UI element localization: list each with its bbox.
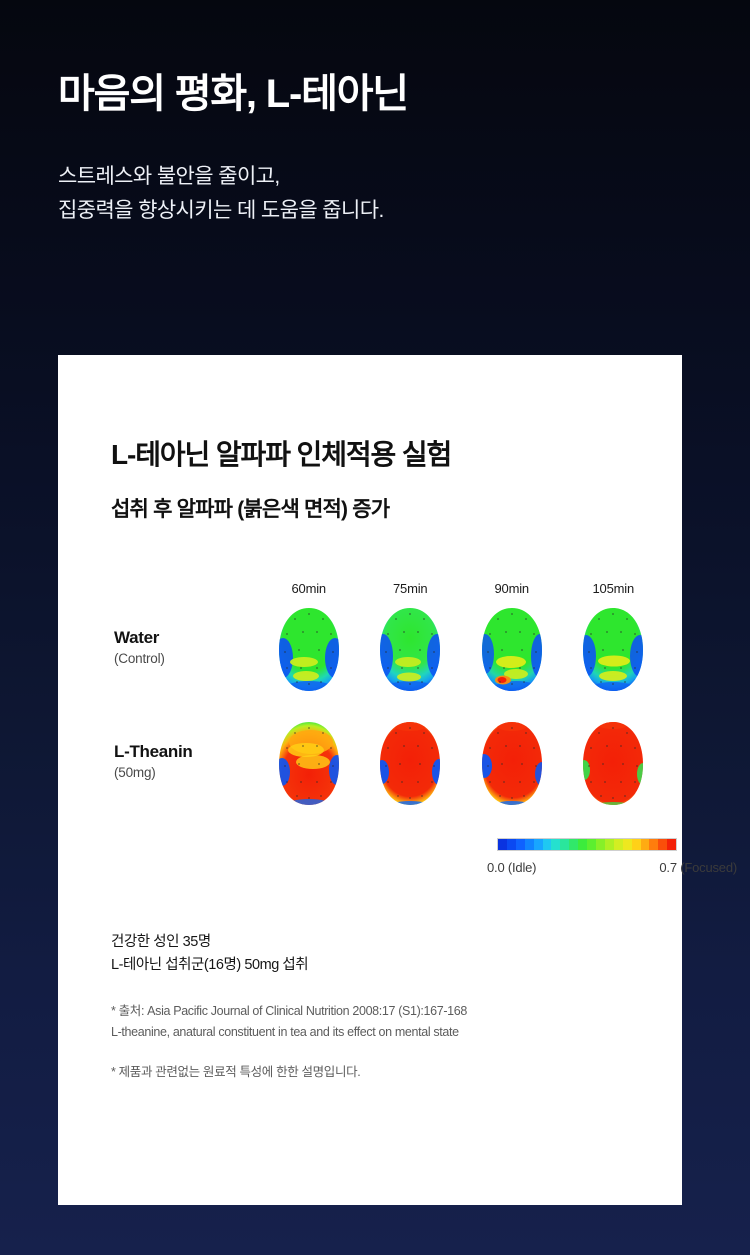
colorbar-segment-19	[667, 839, 676, 850]
colorbar-segment-13	[614, 839, 623, 850]
study-notes: 건강한 성인 35명 L-테아닌 섭취군(16명) 50mg 섭취 * 출처: …	[58, 931, 682, 1082]
card-subtitle: 섭취 후 알파파 (붉은색 면적) 증가	[58, 493, 682, 523]
colorbar-segment-10	[587, 839, 596, 850]
eeg-topomap-icon	[476, 606, 548, 694]
brain-map-theanin-105min	[563, 720, 665, 808]
colorbar-segment-17	[649, 839, 658, 850]
row-label-theanin: L-Theanin (50mg)	[111, 720, 258, 780]
brain-map-theanin-75min	[360, 720, 462, 808]
colorbar-segment-12	[605, 839, 614, 850]
row-label-water-main: Water	[114, 628, 258, 648]
colorbar-segment-8	[569, 839, 578, 850]
eeg-topomap-icon	[273, 606, 345, 694]
brain-map-water-75min	[360, 606, 462, 694]
colorbar-legend: 0.0 (Idle) 0.7 (Focused)	[311, 838, 641, 875]
map-row-theanin: L-Theanin (50mg)	[111, 720, 682, 808]
brain-map-theanin-90min	[461, 720, 563, 808]
row-label-water-sub: (Control)	[114, 651, 258, 666]
page-title: 마음의 평화, L-테아닌	[58, 70, 750, 118]
colorbar-segment-5	[543, 839, 552, 850]
eeg-topomap-icon	[577, 606, 649, 694]
colorbar-segment-1	[507, 839, 516, 850]
colorbar-segment-15	[632, 839, 641, 850]
eeg-topomap-icon	[374, 720, 446, 808]
colorbar-segment-9	[578, 839, 587, 850]
colorbar-segment-7	[560, 839, 569, 850]
eeg-topomap-icon	[577, 720, 649, 808]
colorbar-segment-16	[641, 839, 650, 850]
source-note: * 출처: Asia Pacific Journal of Clinical N…	[111, 1001, 682, 1042]
source-line-2: L-theanine, anatural constituent in tea …	[111, 1022, 682, 1042]
row-label-water: Water (Control)	[111, 606, 258, 666]
map-row-water: Water (Control)	[111, 606, 682, 694]
study-card: L-테아닌 알파파 인체적용 실험 섭취 후 알파파 (붉은색 면적) 증가 6…	[58, 355, 682, 1205]
eeg-topomap-icon	[273, 720, 345, 808]
row-label-theanin-main: L-Theanin	[114, 742, 258, 762]
participants-line-2: L-테아닌 섭취군(16명) 50mg 섭취	[111, 954, 682, 977]
source-line-1: * 출처: Asia Pacific Journal of Clinical N…	[111, 1001, 682, 1021]
colorbar-segment-4	[534, 839, 543, 850]
row-label-theanin-sub: (50mg)	[114, 765, 258, 780]
colorbar-segment-2	[516, 839, 525, 850]
colorbar-min-label: 0.0 (Idle)	[487, 860, 536, 875]
disclaimer-note: * 제품과 관련없는 원료적 특성에 한한 설명입니다.	[111, 1062, 682, 1082]
time-column-headers: 60min 75min 90min 105min	[258, 581, 664, 596]
hero-subtitle: 스트레스와 불안을 줄이고, 집중력을 향상시키는 데 도움을 줍니다.	[58, 160, 750, 228]
column-header-105min: 105min	[563, 581, 665, 596]
participants-line-1: 건강한 성인 35명	[111, 931, 682, 954]
brain-map-theanin-60min	[258, 720, 360, 808]
disclaimer-text: * 제품과 관련없는 원료적 특성에 한한 설명입니다.	[111, 1062, 682, 1082]
column-header-60min: 60min	[258, 581, 360, 596]
hero-subtitle-line-1: 스트레스와 불안을 줄이고,	[58, 160, 750, 194]
eeg-figure: 60min 75min 90min 105min Water (Control)	[58, 581, 682, 875]
eeg-topomap-icon	[476, 720, 548, 808]
participants-note: 건강한 성인 35명 L-테아닌 섭취군(16명) 50mg 섭취	[111, 931, 682, 977]
colorbar-max-label: 0.7 (Focused)	[659, 860, 737, 875]
hero-subtitle-line-2: 집중력을 향상시키는 데 도움을 줍니다.	[58, 194, 750, 228]
colorbar-segment-3	[525, 839, 534, 850]
colorbar-gradient	[497, 838, 677, 851]
colorbar-segment-0	[498, 839, 507, 850]
colorbar-segment-11	[596, 839, 605, 850]
eeg-topomap-icon	[374, 606, 446, 694]
brain-map-water-90min	[461, 606, 563, 694]
colorbar-segment-18	[658, 839, 667, 850]
hero-section: 마음의 평화, L-테아닌 스트레스와 불안을 줄이고, 집중력을 향상시키는 …	[0, 0, 750, 228]
colorbar-labels: 0.0 (Idle) 0.7 (Focused)	[487, 860, 737, 875]
column-header-75min: 75min	[360, 581, 462, 596]
brain-map-water-105min	[563, 606, 665, 694]
brain-map-water-60min	[258, 606, 360, 694]
colorbar-segment-14	[623, 839, 632, 850]
colorbar-segment-6	[551, 839, 560, 850]
column-header-90min: 90min	[461, 581, 563, 596]
card-title: L-테아닌 알파파 인체적용 실험	[58, 433, 682, 473]
